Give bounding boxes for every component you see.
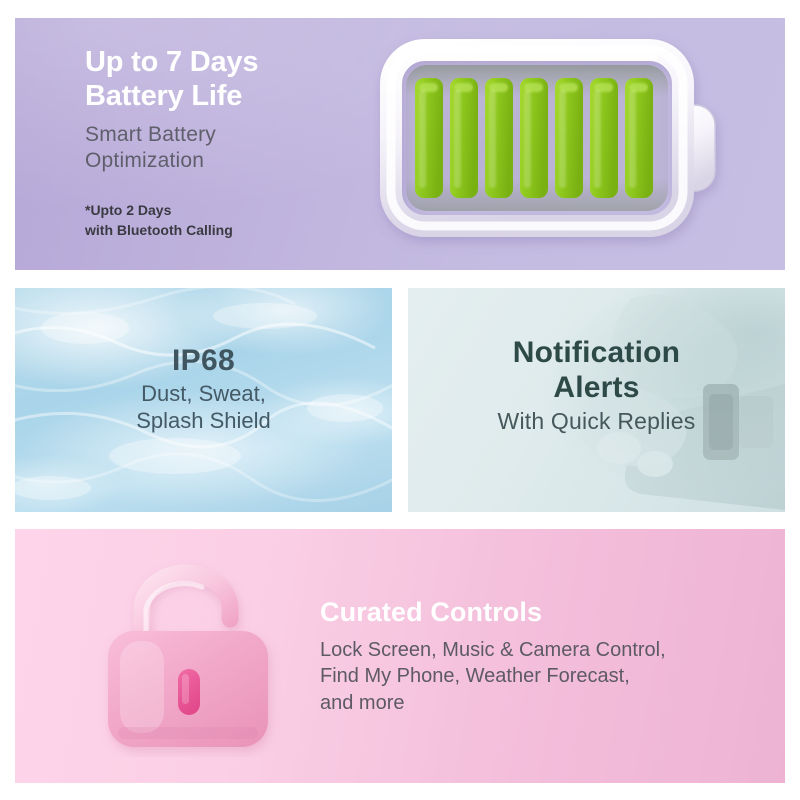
battery-bars <box>415 78 653 198</box>
notification-text-block: Notification Alerts With Quick Replies <box>408 336 785 435</box>
battery-text-block: Up to 7 Days Battery Life Smart Battery … <box>85 46 375 241</box>
battery-heading: Up to 7 Days Battery Life <box>85 46 375 114</box>
feature-grid: Up to 7 Days Battery Life Smart Battery … <box>0 0 800 800</box>
panel-curated-controls: Curated Controls Lock Screen, Music & Ca… <box>15 529 785 783</box>
battery-subheading: Smart Battery Optimization <box>85 122 375 174</box>
battery-footnote: *Upto 2 Days with Bluetooth Calling <box>85 200 375 241</box>
notification-subheading: With Quick Replies <box>408 408 785 435</box>
panel-ip68: IP68 Dust, Sweat, Splash Shield <box>15 288 392 512</box>
notification-heading: Notification Alerts <box>408 336 785 406</box>
open-padlock-icon <box>90 557 300 757</box>
ip68-subheading: Dust, Sweat, Splash Shield <box>15 381 392 435</box>
panel-battery-life: Up to 7 Days Battery Life Smart Battery … <box>15 18 785 270</box>
battery-full-icon <box>373 28 785 268</box>
ip68-text-block: IP68 Dust, Sweat, Splash Shield <box>15 344 392 435</box>
controls-text-block: Curated Controls Lock Screen, Music & Ca… <box>320 597 780 716</box>
ip68-heading: IP68 <box>15 344 392 378</box>
controls-subheading: Lock Screen, Music & Camera Control, Fin… <box>320 637 780 716</box>
controls-heading: Curated Controls <box>320 597 780 628</box>
panel-notification-alerts: Notification Alerts With Quick Replies <box>408 288 785 512</box>
